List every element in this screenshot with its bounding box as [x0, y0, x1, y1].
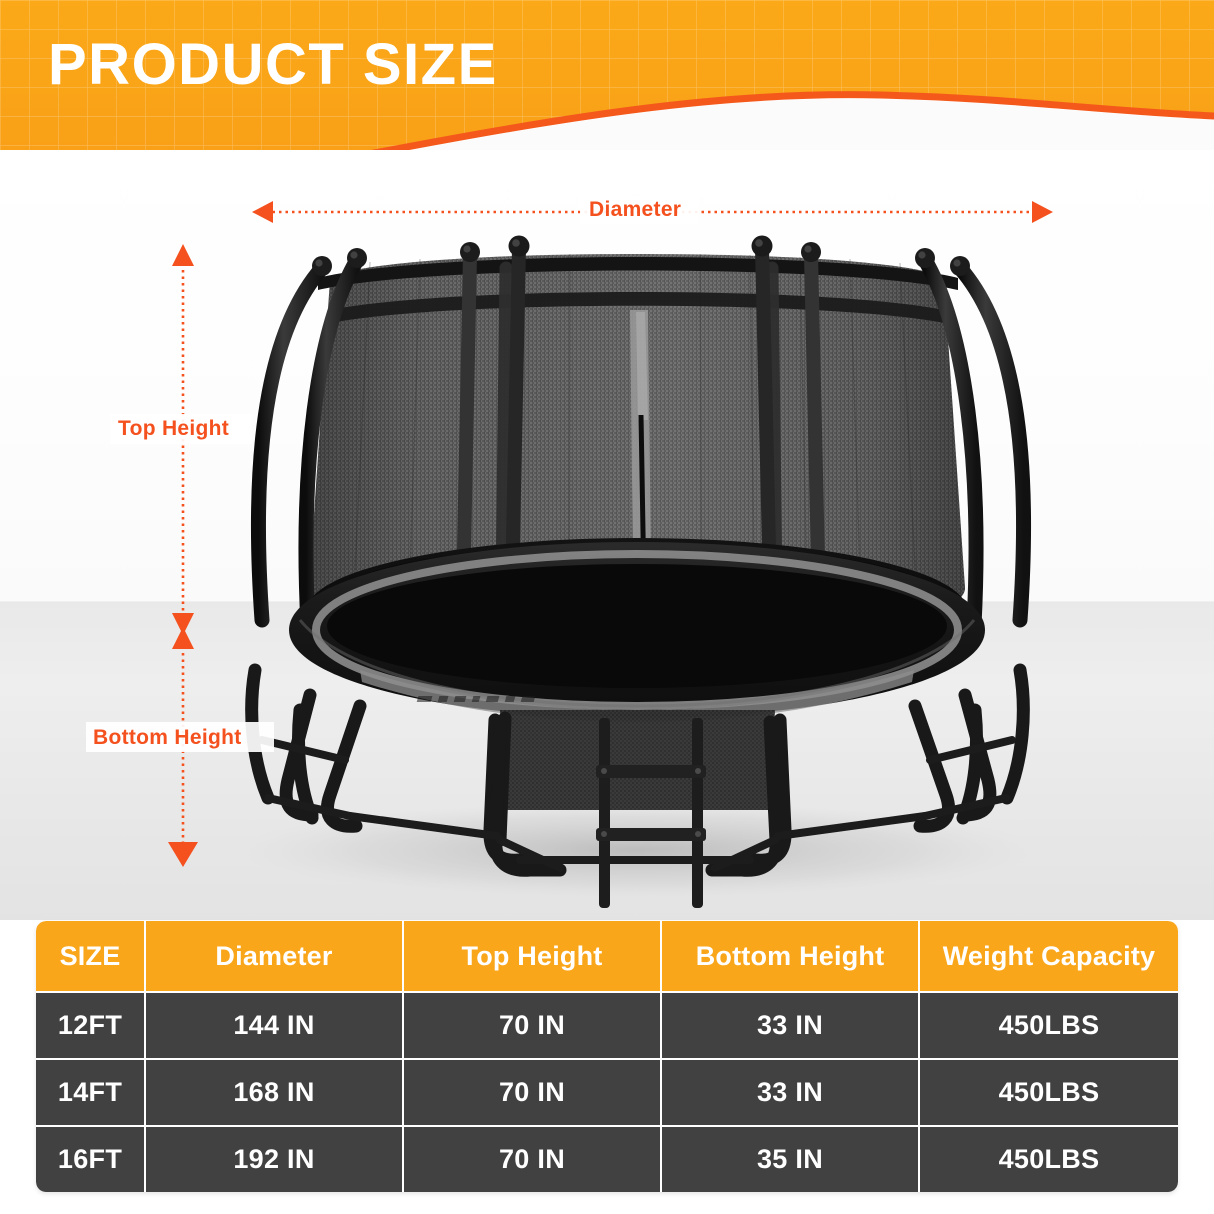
cell-diameter: 168 IN — [146, 1060, 404, 1127]
column-header-bottom-height: Bottom Height — [662, 921, 920, 993]
frame-safety-pad — [289, 542, 985, 722]
cell-weight-capacity: 450LBS — [920, 1127, 1178, 1192]
top-height-arrow-up — [172, 244, 194, 266]
table-row: 14FT 168 IN 70 IN 33 IN 450LBS — [36, 1060, 1178, 1127]
cell-top-height: 70 IN — [404, 1060, 662, 1127]
cell-weight-capacity: 450LBS — [920, 993, 1178, 1060]
cell-weight-capacity: 450LBS — [920, 1060, 1178, 1127]
frame-mesh-skirt — [500, 710, 775, 810]
table-row: 16FT 192 IN 70 IN 35 IN 450LBS — [36, 1127, 1178, 1192]
cell-diameter: 144 IN — [146, 993, 404, 1060]
diameter-label: Diameter — [589, 198, 681, 222]
page-title: PRODUCT SIZE — [48, 36, 498, 94]
bottom-height-arrow-up — [172, 627, 194, 649]
cell-top-height: 70 IN — [404, 993, 662, 1060]
cell-size: 16FT — [36, 1127, 146, 1192]
cell-size: 14FT — [36, 1060, 146, 1127]
diameter-arrow-left — [252, 201, 273, 223]
bottom-height-arrow-bottom — [168, 842, 198, 867]
cell-size: 12FT — [36, 993, 146, 1060]
cell-bottom-height: 33 IN — [662, 993, 920, 1060]
table-row: 12FT 144 IN 70 IN 33 IN 450LBS — [36, 993, 1178, 1060]
cell-diameter: 192 IN — [146, 1127, 404, 1192]
cell-bottom-height: 33 IN — [662, 1060, 920, 1127]
column-header-top-height: Top Height — [404, 921, 662, 993]
diameter-arrow-right — [1032, 201, 1053, 223]
product-size-infographic: PRODUCT SIZE — [0, 0, 1214, 1214]
top-height-label: Top Height — [118, 417, 229, 441]
bottom-height-label: Bottom Height — [93, 726, 242, 750]
trampoline-illustration — [0, 150, 1214, 920]
table-header-row: SIZE Diameter Top Height Bottom Height W… — [36, 921, 1178, 993]
cell-bottom-height: 35 IN — [662, 1127, 920, 1192]
product-photo-scene — [0, 150, 1214, 920]
size-spec-table: SIZE Diameter Top Height Bottom Height W… — [36, 921, 1178, 1192]
column-header-size: SIZE — [36, 921, 146, 993]
column-header-diameter: Diameter — [146, 921, 404, 993]
column-header-weight-capacity: Weight Capacity — [920, 921, 1178, 993]
cell-top-height: 70 IN — [404, 1127, 662, 1192]
